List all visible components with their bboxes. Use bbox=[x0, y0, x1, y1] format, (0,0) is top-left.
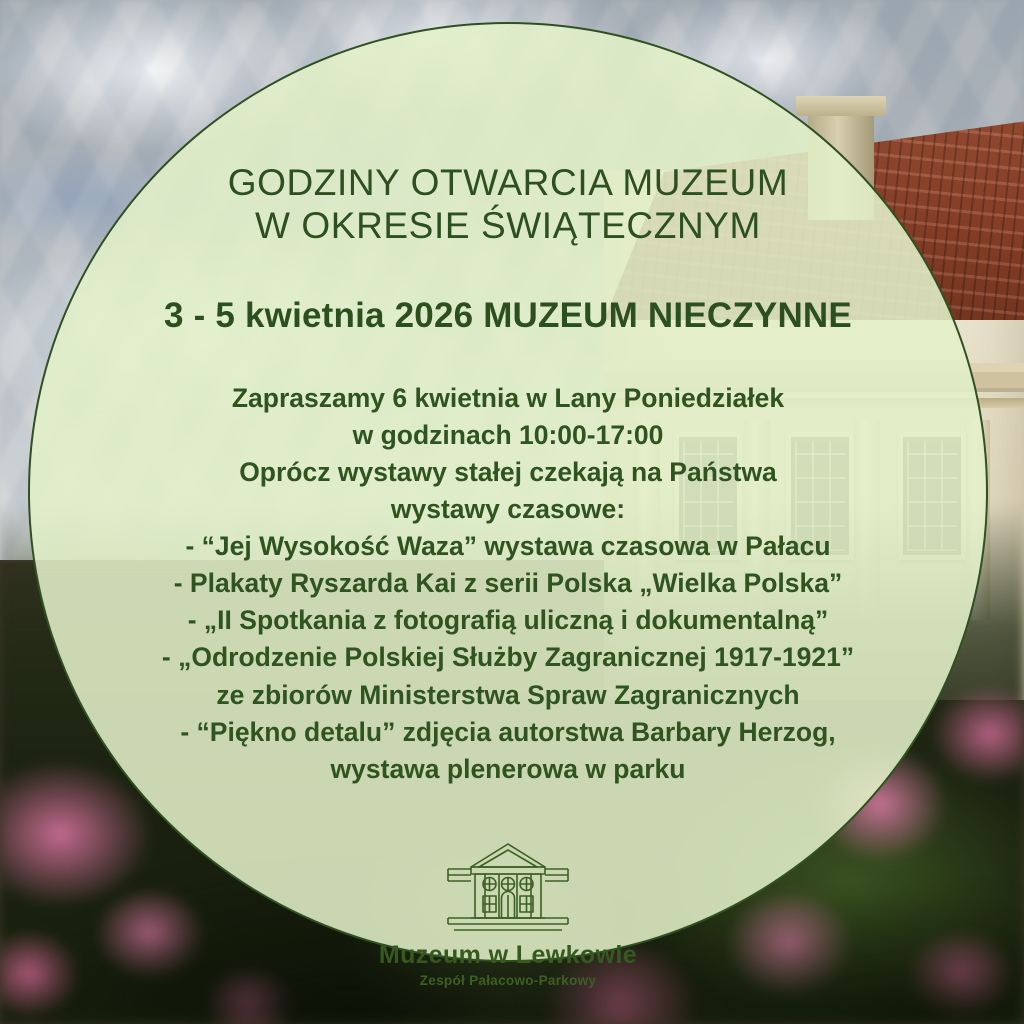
closure-headline: 3 - 5 kwietnia 2026 MUZEUM NIECZYNNE bbox=[164, 296, 852, 336]
exhibition-item: - Plakaty Ryszarda Kai z serii Polska „W… bbox=[28, 565, 988, 602]
exhibition-item: - „Odrodzenie Polskiej Służby Zagraniczn… bbox=[28, 639, 988, 676]
exhibition-item: - “Jej Wysokość Waza” wystawa czasowa w … bbox=[28, 528, 988, 565]
body-line: wystawy czasowe: bbox=[28, 491, 988, 528]
exhibition-item: - “Piękno detalu” zdjęcia autorstwa Barb… bbox=[28, 714, 988, 751]
title-line-1: GODZINY OTWARCIA MUZEUM bbox=[228, 162, 789, 203]
title-line-2: W OKRESIE ŚWIĄTECZNYM bbox=[228, 205, 789, 248]
poster-content: GODZINY OTWARCIA MUZEUM W OKRESIE ŚWIĄTE… bbox=[28, 22, 988, 962]
body-text: Zapraszamy 6 kwietnia w Lany Poniedziałe… bbox=[28, 380, 988, 788]
body-line: Oprócz wystawy stałej czekają na Państwa bbox=[28, 454, 988, 491]
museum-logo: Muzeum w Lewkowie Zespół Pałacowo-Parkow… bbox=[28, 840, 988, 988]
palace-facade-icon bbox=[444, 840, 572, 934]
logo-museum-name: Muzeum w Lewkowie bbox=[379, 941, 637, 970]
body-line: w godzinach 10:00-17:00 bbox=[28, 417, 988, 454]
exhibition-item: - „II Spotkania z fotografią uliczną i d… bbox=[28, 602, 988, 639]
exhibition-item-cont: ze zbiorów Ministerstwa Spraw Zagraniczn… bbox=[28, 677, 988, 714]
poster: GODZINY OTWARCIA MUZEUM W OKRESIE ŚWIĄTE… bbox=[0, 0, 1024, 1024]
page-title: GODZINY OTWARCIA MUZEUM W OKRESIE ŚWIĄTE… bbox=[228, 162, 789, 248]
logo-subtitle: Zespół Pałacowo-Parkowy bbox=[420, 973, 596, 988]
body-line: Zapraszamy 6 kwietnia w Lany Poniedziałe… bbox=[28, 380, 988, 417]
exhibition-item-cont: wystawa plenerowa w parku bbox=[28, 751, 988, 788]
